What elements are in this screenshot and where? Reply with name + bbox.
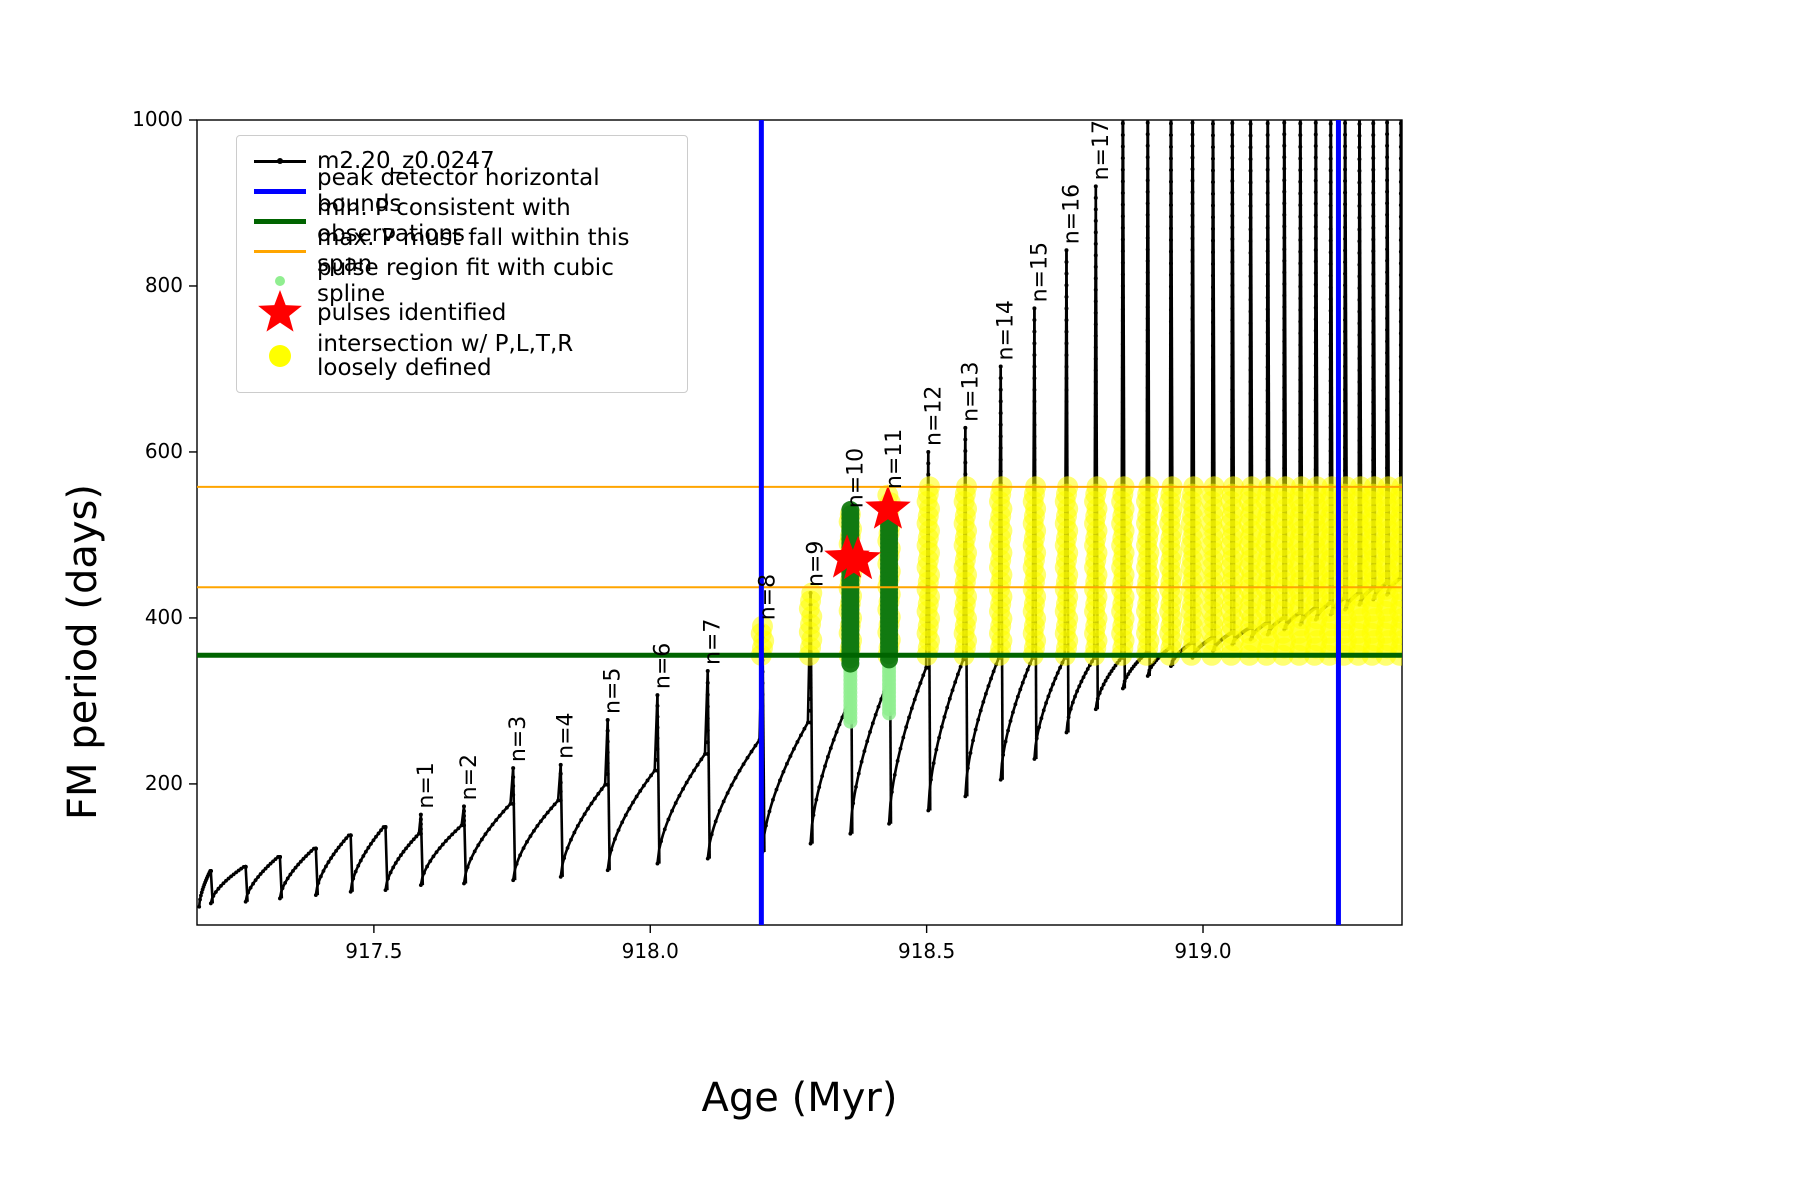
track-point xyxy=(1094,230,1098,234)
track-point xyxy=(1094,207,1098,211)
track-point xyxy=(484,832,488,836)
track-point xyxy=(1100,687,1104,691)
track-point xyxy=(963,461,967,465)
track-point xyxy=(1371,319,1375,323)
track-point xyxy=(1385,374,1389,378)
track-point xyxy=(1121,412,1125,416)
track-point xyxy=(1211,157,1215,161)
track-point xyxy=(1146,466,1150,470)
track-point xyxy=(1146,455,1150,459)
track-point xyxy=(1282,317,1286,321)
track-point xyxy=(696,763,700,767)
track-point xyxy=(1094,707,1098,711)
track-point xyxy=(1371,330,1375,334)
track-point xyxy=(1399,87,1403,91)
track-point xyxy=(1191,52,1195,56)
pulse-label-n17: n=17 xyxy=(1089,120,1114,180)
track-point xyxy=(1343,272,1347,276)
track-point xyxy=(1230,249,1234,253)
track-point xyxy=(1329,262,1333,266)
track-point xyxy=(1191,202,1195,206)
track-point xyxy=(1282,86,1286,90)
track-point xyxy=(1314,329,1318,333)
track-point xyxy=(893,773,897,777)
track-point xyxy=(1191,190,1195,194)
track-point xyxy=(1191,410,1195,414)
track-point xyxy=(692,769,696,773)
track-point xyxy=(1314,260,1318,264)
track-point xyxy=(1146,63,1150,67)
track-point xyxy=(1249,216,1253,220)
track-point xyxy=(1266,238,1270,242)
track-point xyxy=(984,692,988,696)
track-point xyxy=(1385,236,1389,240)
legend-line-icon xyxy=(249,236,311,266)
track-point xyxy=(1329,309,1333,313)
track-point xyxy=(1266,296,1270,300)
track-point xyxy=(1385,339,1389,343)
track-point xyxy=(559,781,563,785)
track-point xyxy=(1343,110,1347,114)
track-point xyxy=(863,749,867,753)
track-point xyxy=(1343,364,1347,368)
track-point xyxy=(1266,447,1270,451)
track-point xyxy=(1104,679,1108,683)
track-point xyxy=(1385,247,1389,251)
track-point xyxy=(714,820,718,824)
track-point xyxy=(987,684,991,688)
track-point xyxy=(764,824,768,828)
track-point xyxy=(1169,145,1173,149)
track-point xyxy=(1094,288,1098,292)
track-point xyxy=(606,783,610,787)
track-point xyxy=(1191,387,1195,391)
track-point xyxy=(656,862,660,866)
track-point xyxy=(1249,309,1253,313)
track-point xyxy=(1146,397,1150,401)
track-point xyxy=(1298,203,1302,207)
track-point xyxy=(1001,753,1005,757)
track-point xyxy=(1298,331,1302,335)
track-point xyxy=(620,820,624,824)
track-point xyxy=(515,862,519,866)
track-point xyxy=(606,740,610,744)
track-point xyxy=(1146,144,1150,148)
track-point xyxy=(1282,144,1286,148)
track-point xyxy=(1211,437,1215,441)
track-point xyxy=(1266,168,1270,172)
track-point xyxy=(1230,318,1234,322)
track-point xyxy=(314,847,318,851)
track-point xyxy=(1249,87,1253,91)
track-point xyxy=(1343,306,1347,310)
track-point xyxy=(1298,75,1302,79)
track-point xyxy=(1282,213,1286,217)
track-point xyxy=(1266,261,1270,265)
track-point xyxy=(444,839,448,843)
track-point xyxy=(1343,52,1347,56)
track-point xyxy=(1169,320,1173,324)
track-point xyxy=(1230,144,1234,148)
track-point xyxy=(322,869,326,873)
track-point xyxy=(1211,215,1215,219)
track-point xyxy=(1230,214,1234,218)
track-point xyxy=(1191,444,1195,448)
track-point xyxy=(1329,75,1333,79)
track-point xyxy=(1282,340,1286,344)
y-tick-label: 800 xyxy=(145,273,183,297)
track-point xyxy=(1266,284,1270,288)
track-point xyxy=(1086,667,1090,671)
track-point xyxy=(435,850,439,854)
track-point xyxy=(1282,420,1286,424)
track-point xyxy=(904,725,908,729)
track-point xyxy=(1282,178,1286,182)
track-point xyxy=(1298,191,1302,195)
track-point xyxy=(1121,203,1125,207)
track-point xyxy=(1211,449,1215,453)
track-point xyxy=(799,733,803,737)
track-point xyxy=(1211,309,1215,313)
track-point xyxy=(1343,434,1347,438)
track-point xyxy=(1094,265,1098,269)
track-point xyxy=(249,886,253,890)
track-point xyxy=(1266,52,1270,56)
legend-item[interactable]: intersection w/ P,L,T,R loosely defined xyxy=(249,330,673,382)
x-axis-label: Age (Myr) xyxy=(197,1075,1402,1121)
track-point xyxy=(359,859,363,863)
track-point xyxy=(635,795,639,799)
track-point xyxy=(246,891,250,895)
track-point xyxy=(1004,740,1008,744)
track-point xyxy=(681,787,685,791)
track-point xyxy=(1032,341,1036,345)
track-point xyxy=(1249,145,1253,149)
track-point xyxy=(1230,399,1234,403)
track-point xyxy=(809,673,813,677)
track-point xyxy=(1032,435,1036,439)
track-point xyxy=(722,800,726,804)
track-point xyxy=(1230,446,1234,450)
track-point xyxy=(1191,421,1195,425)
track-point xyxy=(624,813,628,817)
track-point xyxy=(1094,357,1098,361)
track-point xyxy=(1371,52,1375,56)
track-point xyxy=(441,843,445,847)
track-point xyxy=(1121,423,1125,427)
track-point xyxy=(1329,320,1333,324)
track-point xyxy=(1385,98,1389,102)
track-point xyxy=(945,706,949,710)
track-point xyxy=(1314,352,1318,356)
track-point xyxy=(750,750,754,754)
track-point xyxy=(1298,110,1302,114)
track-point xyxy=(1266,75,1270,79)
track-point xyxy=(1230,272,1234,276)
track-point xyxy=(593,797,597,801)
track-point xyxy=(1249,356,1253,360)
pulse-label-n16: n=16 xyxy=(1059,184,1084,244)
track-point xyxy=(899,747,903,751)
track-point xyxy=(1121,307,1125,311)
track-point xyxy=(1211,274,1215,278)
track-point xyxy=(1121,238,1125,242)
track-point xyxy=(971,739,975,743)
track-point xyxy=(1230,422,1234,426)
track-point xyxy=(1249,391,1253,395)
legend-item[interactable]: pulse region fit with cubic spline xyxy=(249,266,673,296)
track-point xyxy=(857,772,861,776)
track-point xyxy=(1282,167,1286,171)
track-point xyxy=(706,716,710,720)
x-tick-label: 919.0 xyxy=(1143,939,1263,963)
track-point xyxy=(1249,181,1253,185)
track-point xyxy=(1191,236,1195,240)
track-point xyxy=(462,814,466,818)
track-point xyxy=(511,784,515,788)
track-point xyxy=(1191,156,1195,160)
track-point xyxy=(1266,354,1270,358)
track-point xyxy=(1329,426,1333,430)
track-point xyxy=(1032,306,1036,310)
track-point xyxy=(462,823,466,827)
track-point xyxy=(494,818,498,822)
track-point xyxy=(1094,391,1098,395)
track-point xyxy=(1298,471,1302,475)
track-point xyxy=(953,680,957,684)
track-point xyxy=(1032,469,1036,473)
track-point xyxy=(1121,330,1125,334)
track-point xyxy=(820,774,824,778)
track-point xyxy=(1357,462,1361,466)
track-point xyxy=(1343,399,1347,403)
track-point xyxy=(1282,305,1286,309)
track-point xyxy=(1169,87,1173,91)
track-point xyxy=(655,704,659,708)
track-point xyxy=(1314,86,1318,90)
track-point xyxy=(1329,110,1333,114)
track-point xyxy=(1298,401,1302,405)
track-point xyxy=(1230,225,1234,229)
track-point xyxy=(1146,294,1150,298)
track-point xyxy=(1385,431,1389,435)
track-point xyxy=(1249,438,1253,442)
track-point xyxy=(1249,321,1253,325)
track-point xyxy=(1314,98,1318,102)
track-drop xyxy=(657,695,659,863)
track-point xyxy=(1371,133,1375,137)
track-point xyxy=(1146,443,1150,447)
track-point xyxy=(1282,466,1286,470)
track-point xyxy=(462,819,466,823)
track-point xyxy=(1094,242,1098,246)
track-point xyxy=(404,846,408,850)
track-point xyxy=(1084,671,1088,675)
track-point xyxy=(366,846,370,850)
track-point xyxy=(1230,353,1234,357)
track-point xyxy=(1169,389,1173,393)
track-point xyxy=(1211,168,1215,172)
track-point xyxy=(1298,378,1302,382)
track-point xyxy=(1357,157,1361,161)
track-point xyxy=(1191,271,1195,275)
track-point xyxy=(1266,377,1270,381)
track-point xyxy=(1191,75,1195,79)
track-point xyxy=(1094,426,1098,430)
track-point xyxy=(926,666,930,670)
track-segment xyxy=(246,857,280,902)
track-point xyxy=(606,729,610,733)
track-point xyxy=(868,730,872,734)
track-point xyxy=(963,426,967,430)
track-point xyxy=(1314,236,1318,240)
track-point xyxy=(1357,216,1361,220)
track-point xyxy=(1146,363,1150,367)
track-point xyxy=(525,840,529,844)
track-point xyxy=(1146,190,1150,194)
track-point xyxy=(1329,356,1333,360)
track-point xyxy=(1169,122,1173,126)
track-point xyxy=(1314,144,1318,148)
track-point xyxy=(1146,374,1150,378)
track-point xyxy=(1385,454,1389,458)
track-point xyxy=(1121,284,1125,288)
track-point xyxy=(1211,204,1215,208)
track-point xyxy=(1314,75,1318,79)
track-point xyxy=(1169,203,1173,207)
track-point xyxy=(1314,225,1318,229)
track-point xyxy=(1146,52,1150,56)
track-point xyxy=(1249,298,1253,302)
track-point xyxy=(1371,110,1375,114)
track-point xyxy=(332,853,336,857)
track-point xyxy=(1191,340,1195,344)
track-point xyxy=(244,900,248,904)
track-point xyxy=(1123,679,1127,683)
track-point xyxy=(1064,388,1068,392)
track-point xyxy=(1282,63,1286,67)
track-point xyxy=(1169,215,1173,219)
track-point xyxy=(1094,334,1098,338)
track-point xyxy=(1211,332,1215,336)
track-point xyxy=(1146,674,1150,678)
track-point xyxy=(1146,409,1150,413)
track-point xyxy=(1230,364,1234,368)
track-point xyxy=(1249,380,1253,384)
track-point xyxy=(1191,433,1195,437)
track-point xyxy=(1329,332,1333,336)
track-point xyxy=(399,853,403,857)
track-point xyxy=(1282,328,1286,332)
track-point xyxy=(1329,274,1333,278)
track-point xyxy=(929,778,933,782)
pulse-label-n15: n=15 xyxy=(1027,242,1052,302)
track-point xyxy=(1146,155,1150,159)
track-point xyxy=(1314,433,1318,437)
track-point xyxy=(926,809,930,813)
track-point xyxy=(600,787,604,791)
track-point xyxy=(782,770,786,774)
track-point xyxy=(1343,121,1347,125)
track-point xyxy=(1211,180,1215,184)
track-point xyxy=(1249,52,1253,56)
track-point xyxy=(1230,260,1234,264)
track-point xyxy=(1191,63,1195,67)
track-point xyxy=(324,864,328,868)
track-point xyxy=(1094,368,1098,372)
track-point xyxy=(1343,191,1347,195)
track-point xyxy=(963,472,967,476)
track-point xyxy=(768,810,772,814)
track-point xyxy=(1211,145,1215,149)
track-point xyxy=(1357,450,1361,454)
track-point xyxy=(1371,249,1375,253)
track-point xyxy=(706,728,710,732)
track-point xyxy=(989,677,993,681)
track-point xyxy=(706,752,710,756)
track-point xyxy=(655,725,659,729)
track-point xyxy=(1329,344,1333,348)
track-point xyxy=(1249,333,1253,337)
track-point xyxy=(1211,344,1215,348)
track-point xyxy=(1329,122,1333,126)
track-point xyxy=(1042,708,1046,712)
track-point xyxy=(590,802,594,806)
track-point xyxy=(334,849,338,853)
track-point xyxy=(522,846,526,850)
track-point xyxy=(1371,423,1375,427)
track-point xyxy=(1329,402,1333,406)
track-point xyxy=(1211,63,1215,67)
track-point xyxy=(1037,725,1041,729)
track-point xyxy=(1371,191,1375,195)
track-point xyxy=(1329,391,1333,395)
track-point xyxy=(877,705,881,709)
track-point xyxy=(209,902,213,906)
track-point xyxy=(1357,427,1361,431)
track-point xyxy=(1371,272,1375,276)
track-point xyxy=(1146,271,1150,275)
track-point xyxy=(1266,121,1270,125)
track-point xyxy=(198,898,202,902)
track-point xyxy=(1094,449,1098,453)
track-point xyxy=(1211,192,1215,196)
track-point xyxy=(447,836,451,840)
track-point xyxy=(1329,157,1333,161)
track-point xyxy=(1125,675,1129,679)
track-point xyxy=(1169,238,1173,242)
track-point xyxy=(491,823,495,827)
track-point xyxy=(1298,285,1302,289)
track-point xyxy=(1191,260,1195,264)
track-point xyxy=(1211,390,1215,394)
track-point xyxy=(1385,86,1389,90)
track-point xyxy=(1121,354,1125,358)
track-point xyxy=(1169,98,1173,102)
track-point xyxy=(539,819,543,823)
track-point xyxy=(1314,271,1318,275)
track-point xyxy=(1211,110,1215,114)
track-point xyxy=(1121,687,1125,691)
track-point xyxy=(562,856,566,860)
track-point xyxy=(1064,400,1068,404)
track-point xyxy=(596,792,600,796)
track-point xyxy=(1040,716,1044,720)
track-point xyxy=(1343,457,1347,461)
track-point xyxy=(1385,328,1389,332)
track-point xyxy=(1357,251,1361,255)
track-point xyxy=(1314,156,1318,160)
